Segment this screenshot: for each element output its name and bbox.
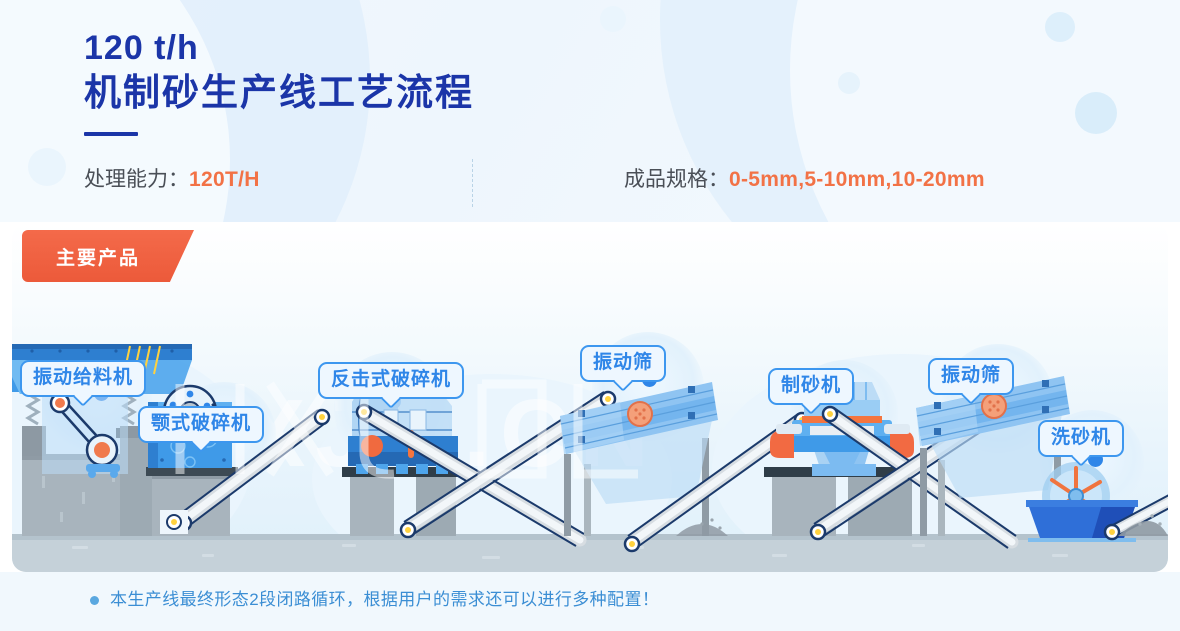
title-capacity: 120 t/h — [84, 28, 474, 68]
decor-dot — [600, 6, 626, 32]
spec-row: 处理能力：120T/H 成品规格：0-5mm,5-10mm,10-20mm — [84, 165, 1124, 207]
bullet-icon — [90, 596, 99, 605]
spec-output-size: 成品规格：0-5mm,5-10mm,10-20mm — [624, 165, 985, 195]
header-banner: 120 t/h 机制砂生产线工艺流程 处理能力：120T/H 成品规格：0-5m… — [0, 0, 1180, 222]
decor-dot — [28, 148, 66, 186]
equipment-label-jaw-crusher[interactable]: 颚式破碎机 — [138, 406, 264, 443]
title-main: 机制砂生产线工艺流程 — [84, 70, 474, 116]
spec-output-value: 0-5mm,5-10mm,10-20mm — [729, 168, 985, 191]
footer-bar: 本生产线最终形态2段闭路循环，根据用户的需求还可以进行多种配置！ — [0, 572, 1180, 631]
material-pile — [676, 524, 728, 536]
decor-dot — [1045, 12, 1075, 42]
equipment-label-impact-crusher[interactable]: 反击式破碎机 — [318, 362, 464, 399]
infographic-page: 120 t/h 机制砂生产线工艺流程 处理能力：120T/H 成品规格：0-5m… — [0, 0, 1180, 631]
spec-capacity-value: 120T/H — [189, 168, 260, 191]
page-title: 120 t/h 机制砂生产线工艺流程 — [84, 28, 474, 136]
equipment-label-vibrating-feeder[interactable]: 振动给料机 — [20, 360, 146, 397]
decor-dot — [838, 72, 860, 94]
footer-note-text: 本生产线最终形态2段闭路循环，根据用户的需求还可以进行多种配置！ — [110, 588, 659, 612]
equipment-label-vibrating-screen-2[interactable]: 振动筛 — [928, 358, 1014, 395]
equipment-label-sand-washer[interactable]: 洗砂机 — [1038, 420, 1124, 457]
pulley-icon — [160, 510, 188, 534]
footer-note: 本生产线最终形态2段闭路循环，根据用户的需求还可以进行多种配置！ — [90, 588, 659, 612]
title-underline — [84, 132, 138, 136]
spec-capacity-label: 处理能力： — [84, 168, 189, 191]
equipment-label-sand-maker[interactable]: 制砂机 — [768, 368, 854, 405]
main-products-ribbon: 主要产品 — [22, 230, 194, 282]
decor-dot — [1075, 92, 1117, 134]
ribbon-label: 主要产品 — [22, 230, 174, 282]
spec-output-label: 成品规格： — [624, 168, 729, 191]
spec-divider — [472, 159, 473, 207]
equipment-label-vibrating-screen-1[interactable]: 振动筛 — [580, 345, 666, 382]
spec-capacity: 处理能力：120T/H — [84, 165, 260, 195]
